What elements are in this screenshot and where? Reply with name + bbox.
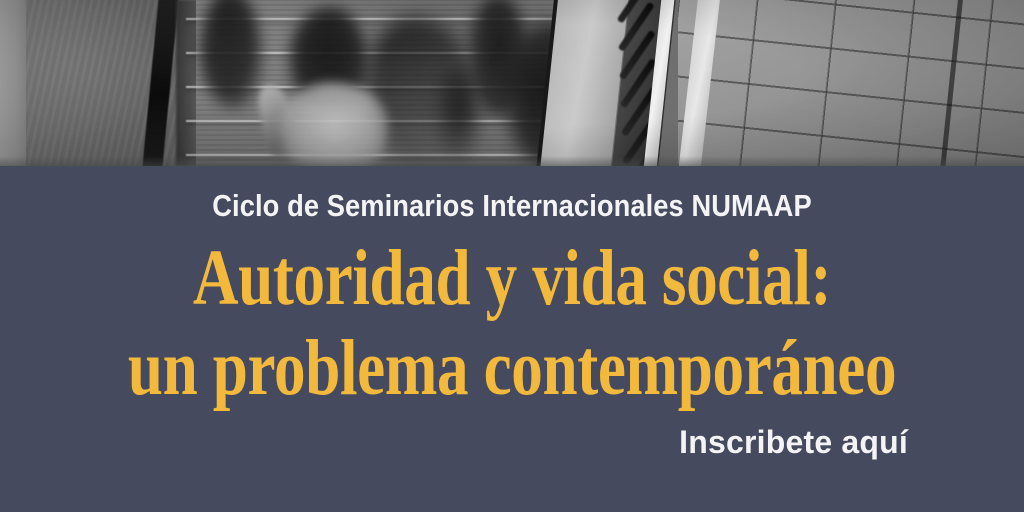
text-panel: Ciclo de Seminarios Internacionales NUMA…: [0, 166, 1024, 512]
photo-vignette: [0, 0, 1024, 166]
event-poster: Ciclo de Seminarios Internacionales NUMA…: [0, 0, 1024, 512]
header-photo: [0, 0, 1024, 166]
register-link[interactable]: Inscribete aquí: [679, 424, 908, 461]
series-eyebrow: Ciclo de Seminarios Internacionales NUMA…: [61, 188, 962, 224]
photo-bottom-fade: [0, 156, 1024, 166]
page-title-line-1: Autoridad y vida social:: [102, 239, 921, 318]
page-title-line-2: un problema contemporáneo: [102, 329, 921, 408]
